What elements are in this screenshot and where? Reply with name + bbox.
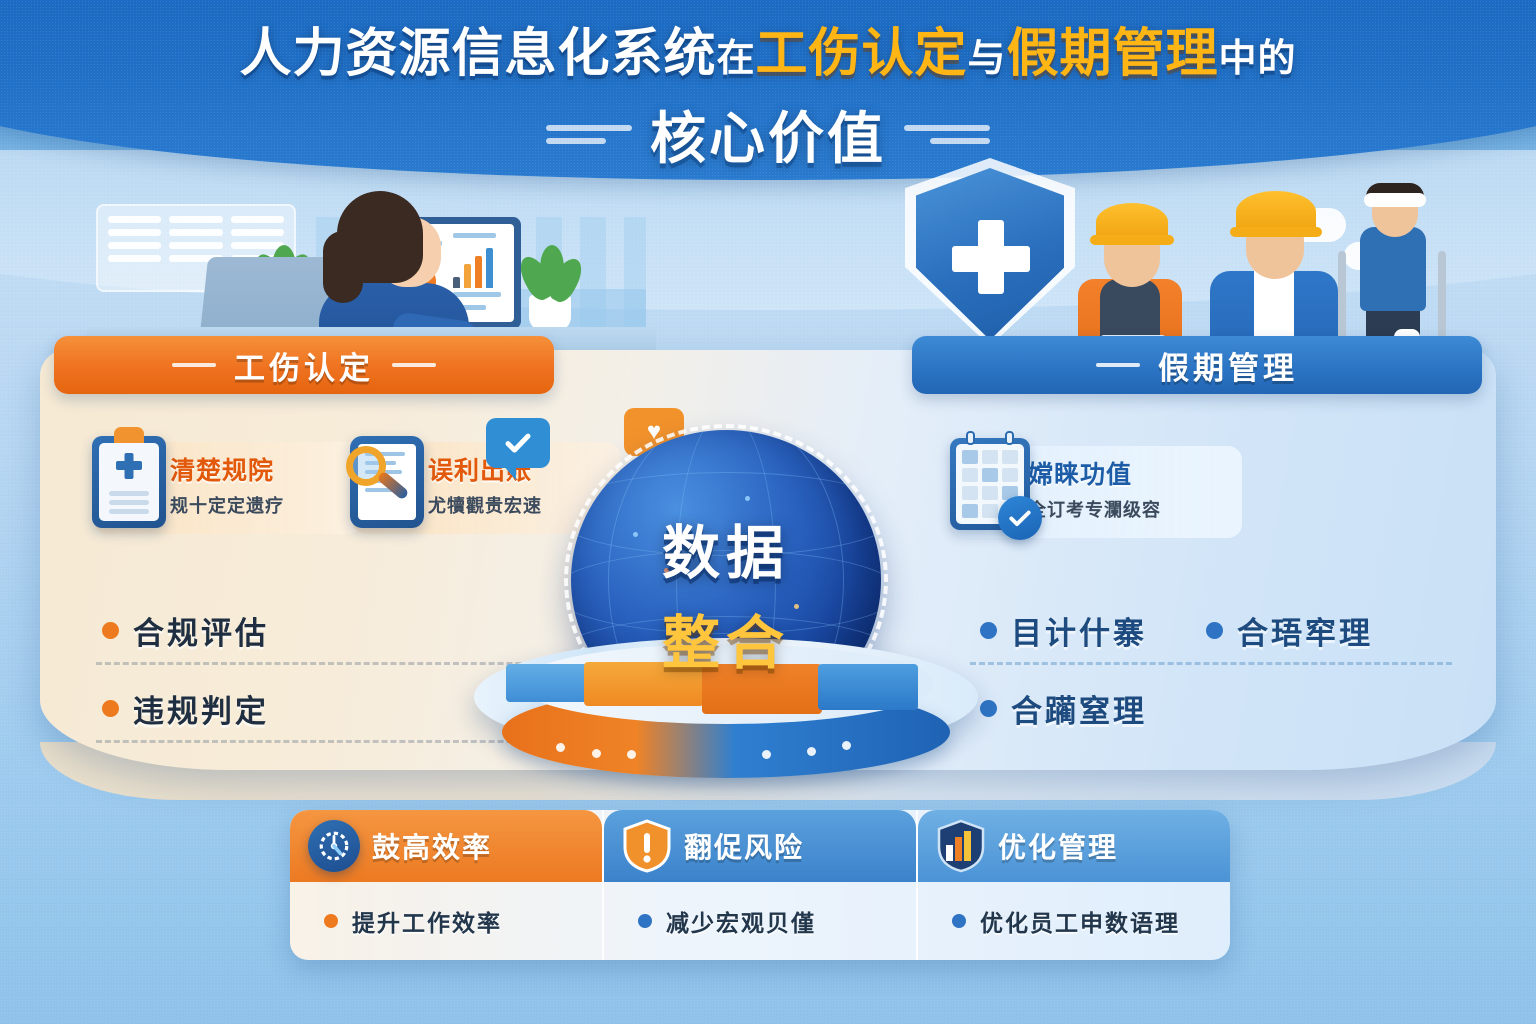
bullet-injury-1[interactable]: 合规评估 <box>102 608 269 653</box>
benefit-card-header: 翻促风险 <box>604 810 916 882</box>
main-title: 人力资源信息化系统在工伤认定与假期管理中的 <box>0 26 1536 82</box>
feature-card-title: 清楚规院 <box>170 458 284 486</box>
benefit-card-title: 鼓高效率 <box>372 826 492 866</box>
bullet-label: 违规判定 <box>133 686 269 731</box>
bar-shield-icon <box>936 818 986 874</box>
bullet-dot <box>102 622 119 639</box>
benefit-card-body: 减少宏观贝僅 <box>604 882 916 960</box>
title-part-3: 工伤认定 <box>755 25 967 83</box>
bullet-leave-3[interactable]: 合躏窒理 <box>980 686 1147 731</box>
benefit-card-body: 提升工作效率 <box>290 882 602 960</box>
section-header-leave-label: 假期管理 <box>1158 343 1298 388</box>
dash-line <box>930 138 990 144</box>
benefit-card-header: 优化管理 <box>918 810 1230 882</box>
dash-line <box>904 125 990 131</box>
subtitle-dash-left <box>546 125 632 144</box>
section-header-leave[interactable]: 假期管理 <box>912 336 1482 394</box>
bullet-dot <box>638 914 652 928</box>
subtitle-row: 核心价值 <box>0 94 1536 175</box>
head-bandage-icon <box>1364 193 1426 207</box>
benefit-card-efficiency[interactable]: 鼓高效率 提升工作效率 <box>290 810 602 960</box>
core-label-line2: 整合 <box>466 596 986 680</box>
benefit-card-risk[interactable]: 翻促风险 减少宏观贝僅 <box>602 810 916 960</box>
gauge-icon <box>308 820 360 872</box>
title-block: 人力资源信息化系统在工伤认定与假期管理中的 核心价值 <box>0 26 1536 175</box>
bullet-divider <box>970 662 1452 665</box>
bullet-label: 合躏窒理 <box>1011 686 1147 731</box>
core-label-line1: 数据 <box>466 506 986 590</box>
feature-card-title: 嫦睐功值 <box>1028 462 1161 490</box>
bullet-dot <box>952 914 966 928</box>
benefit-card-text: 减少宏观贝僅 <box>666 904 816 938</box>
check-badge-icon <box>998 496 1042 540</box>
pill-dash-right <box>392 363 436 367</box>
pill-dash-left <box>1096 363 1140 367</box>
benefit-card-title: 优化管理 <box>998 826 1118 866</box>
alert-shield-icon <box>622 818 672 874</box>
benefit-card-text: 提升工作效率 <box>352 904 502 938</box>
clipboard-medical-icon <box>92 436 166 528</box>
feature-card-leave-calendar[interactable]: 嫦睐功值 全订考专瀾级容 <box>952 446 1242 538</box>
bullet-dot <box>1206 622 1223 639</box>
title-part-6: 中的 <box>1219 38 1297 80</box>
dash-line <box>546 138 606 144</box>
benefit-card-header: 鼓高效率 <box>290 810 602 882</box>
desk-plant-right <box>522 295 578 331</box>
benefits-card-group: 鼓高效率 提升工作效率 翻促风险 减少宏观贝僅 <box>290 810 1230 960</box>
title-part-5: 假期管理 <box>1007 25 1219 83</box>
bullet-label: 合珸窂理 <box>1237 608 1373 653</box>
dash-line <box>546 125 632 131</box>
safety-shield-icon <box>916 168 1064 340</box>
magnifier-document-icon <box>350 436 424 528</box>
benefit-card-text: 优化员工申数语理 <box>980 904 1180 938</box>
section-header-injury[interactable]: 工伤认定 <box>54 336 554 394</box>
benefit-card-optimize[interactable]: 优化管理 优化员工申数语理 <box>916 810 1230 960</box>
bullet-label: 合规评估 <box>133 608 269 653</box>
title-part-2: 在 <box>716 38 755 80</box>
check-bubble-icon <box>486 418 550 468</box>
title-part-4: 与 <box>968 38 1007 80</box>
data-integration-core: ♥ 数据 整合 <box>466 420 986 780</box>
title-part-1: 人力资源信息化系统 <box>239 25 716 83</box>
bullet-leave-1[interactable]: 目计什寨 <box>980 608 1147 653</box>
bullet-injury-2[interactable]: 违规判定 <box>102 686 269 731</box>
subtitle-dash-right <box>904 125 990 144</box>
section-header-injury-label: 工伤认定 <box>234 343 374 388</box>
subtitle: 核心价值 <box>650 94 886 175</box>
benefit-card-body: 优化员工申数语理 <box>918 882 1230 960</box>
core-label: 数据 整合 <box>466 506 986 680</box>
feature-card-subtitle: 全订考专瀾级容 <box>1028 496 1161 522</box>
benefit-card-title: 翻促风险 <box>684 826 804 866</box>
bullet-leave-2[interactable]: 合珸窂理 <box>1206 608 1373 653</box>
bullet-dot <box>324 914 338 928</box>
infographic-canvas: 人力资源信息化系统在工伤认定与假期管理中的 核心价值 <box>0 0 1536 1024</box>
feature-card-subtitle: 规十定定遗疗 <box>170 492 284 518</box>
bullet-label: 目计什寨 <box>1011 608 1147 653</box>
feature-card-injury-report[interactable]: 清楚规院 规十定定遗疗 <box>94 442 362 534</box>
pill-dash-left <box>172 363 216 367</box>
bullet-dot <box>102 700 119 717</box>
